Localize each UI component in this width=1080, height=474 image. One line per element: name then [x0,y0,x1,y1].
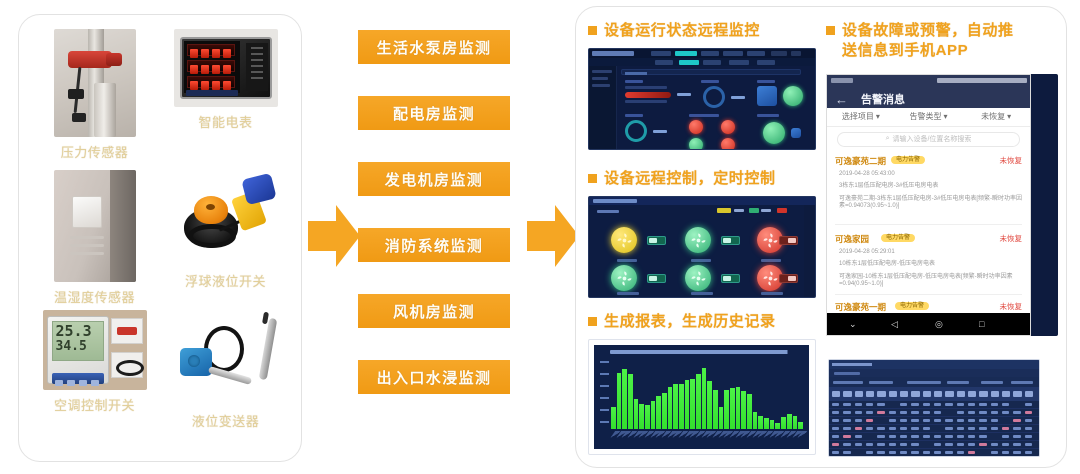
history-record-table [829,360,1039,456]
table-cell [843,451,850,454]
alarm-title: 可逸豪苑二期 [835,155,886,167]
alarm-title: 可逸豪苑一期 [835,301,886,313]
chart-bar [668,387,673,430]
table-cell [979,427,986,430]
square-bullet-icon [588,317,597,326]
table-cell [1002,435,1009,438]
filter-project-label: 选择项目 [842,111,874,122]
search-placeholder: 请输入设备/位置名称搜索 [892,134,971,144]
chart-bar [673,384,678,430]
table-cell [877,427,884,430]
status-indicator [689,138,703,150]
sensor-item-ac-switch[interactable]: 25.334.5 空调控制开关 [29,310,160,451]
table-cell [900,443,907,446]
table-cell [855,435,862,438]
table-column-header [866,391,874,397]
table-cell [979,403,986,406]
app-title: 告警消息 [861,91,905,107]
table-cell [832,411,839,414]
table-cell [832,403,839,406]
sensor-item-temp-humidity[interactable]: 温湿度传感器 [29,170,160,311]
table-cell [923,451,930,454]
chart-bar [724,390,729,429]
table-cell [1025,427,1032,430]
table-cell [957,427,964,430]
table-cell [1013,443,1020,446]
search-input[interactable]: ⌕ 请输入设备/位置名称搜索 [837,132,1020,147]
table-cell [979,419,986,422]
section-heading-text: 生成报表，生成历史记录 [604,312,776,332]
table-cell [945,435,952,438]
table-cell [855,443,862,446]
table-cell [877,435,884,438]
sensor-caption: 温湿度传感器 [54,287,135,306]
table-cell [911,403,918,406]
table-cell [832,451,839,454]
chart-bar [639,404,644,429]
table-cell [911,411,918,414]
table-column-header [1013,391,1021,397]
table-cell [900,411,907,414]
table-cell [1025,419,1032,422]
table-column-header [877,391,885,397]
section-heading-text: 设备故障或预警，自动推 送信息到手机APP [842,21,1014,62]
table-cell [957,403,964,406]
dashboard-sidebar [589,66,617,149]
status-indicator [689,120,703,134]
table-cell [934,443,941,446]
table-cell [900,403,907,406]
table-cell [934,403,941,406]
table-cell [866,419,873,422]
status-indicator [757,86,777,106]
arrow-left-icon[interactable]: ← [835,93,848,106]
table-column-header [843,391,851,397]
table-row[interactable] [829,433,1039,441]
chart-bar [685,380,690,429]
chart-bar [622,369,627,429]
table-cell [968,411,975,414]
chart-bar [690,379,695,429]
chart-bar [679,384,684,429]
table-row[interactable] [829,401,1039,409]
device-label [617,259,637,262]
table-cell [900,435,907,438]
table-column-header [1025,391,1033,397]
table-cell [843,435,850,438]
table-cell [866,403,873,406]
chevron-down-icon: ▾ [944,112,948,121]
table-cell [832,427,839,430]
table-cell [957,443,964,446]
table-cell [877,451,884,454]
device-toggle-switch[interactable] [721,236,740,245]
status-indicator [783,86,803,106]
section-heading-line1: 设备故障或预警，自动推 [842,22,1014,39]
alarm-detail: 可逸家园-10栋东1层低压配电房-低压电房电表[频繁-瞬时功率因素=0.94(0… [839,274,1022,289]
section-alarm-push: 设备故障或预警，自动推 送信息到手机APP ← 告警消息 选择项目 [826,21,1058,336]
table-column-header [923,391,931,397]
status-indicator [791,128,801,138]
table-cell [1013,411,1020,414]
table-cell [843,419,850,422]
scenario-tag[interactable]: 生活水泵房监测 [358,30,510,64]
section-status-monitoring: 设备运行状态远程监控 [588,21,816,150]
sensor-item-level-transmitter[interactable]: 液位变送器 [160,310,291,451]
air-conditioner-control-switch-photo: 25.334.5 [43,310,147,390]
table-row[interactable] [829,425,1039,433]
table-cell [877,411,884,414]
infographic-root: 压力传感器 智能电表 温湿度传感器 [0,0,1080,474]
sensor-item-pressure[interactable]: 压力传感器 [29,29,160,170]
table-cell [832,443,839,446]
alarm-status: 未恢复 [1000,155,1023,166]
device-fan-icon[interactable] [685,227,711,253]
table-cell [968,419,975,422]
table-cell [957,411,964,414]
table-cell [889,435,896,438]
table-cell [991,411,998,414]
table-cell [991,427,998,430]
filter-alarm-type[interactable]: 告警类型 ▾ [895,108,963,126]
chart-bar [634,399,639,429]
dashboard-subtabs [589,58,815,66]
device-label [761,292,783,295]
table-cell [923,419,930,422]
table-cell [1013,451,1020,454]
table-cell [855,411,862,414]
table-cell [855,419,862,422]
table-cell [911,435,918,438]
scenario-tag[interactable]: 配电房监测 [358,96,510,130]
device-toggle-switch[interactable] [647,274,666,283]
chart-bar [730,388,735,429]
table-cell [1002,427,1009,430]
table-cell [877,443,884,446]
sensor-item-meter[interactable]: 智能电表 [160,29,291,170]
sensor-gallery-panel: 压力传感器 智能电表 温湿度传感器 [18,14,302,462]
alarm-list-item[interactable]: 可逸豪苑二期 电力告警 未恢复 2019-04-28 05:43:00 3栋东1… [835,155,1022,225]
table-row[interactable] [829,441,1039,449]
chart-y-axis [594,359,610,429]
alarm-status: 未恢复 [1000,233,1023,244]
table-cell [889,419,896,422]
table-cell [900,451,907,454]
sensor-caption: 浮球液位开关 [185,271,266,290]
flow-arrow-right [527,205,579,267]
section-heading: 设备故障或预警，自动推 送信息到手机APP [826,21,1058,62]
chart-bar [645,405,650,429]
table-cell [934,419,941,422]
chart-bar [702,368,707,430]
app-navbar: ← 告警消息 [827,86,1030,108]
table-cell [945,427,952,430]
home-circle-icon[interactable]: ◎ [935,319,943,330]
alarm-badge: 电力告警 [881,234,915,242]
android-nav-bar: ⌄ ◁ ◎ □ [827,313,1030,335]
section-remote-control: 设备远程控制，定时控制 [588,169,816,298]
device-toggle-switch[interactable] [721,274,740,283]
table-column-header [911,391,919,397]
table-cell [843,443,850,446]
phone-status-bar [827,75,1030,86]
chart-title [610,350,803,354]
alarm-badge: 电力告警 [891,156,925,164]
chart-bar [753,412,758,429]
status-indicator [721,120,735,134]
table-cell [923,435,930,438]
table-column-header [832,391,840,397]
legend-normal [749,208,759,213]
table-column-header [968,391,976,397]
table-column-header [945,391,953,397]
table-column-header [1002,391,1010,397]
filter-alarm-type-label: 告警类型 [910,111,942,122]
scenario-tag[interactable]: 风机房监测 [358,294,510,328]
alarm-device: 10栋东1层低压配电房-低压电房电表 [839,261,1022,269]
chart-bar [747,394,752,430]
table-cell [855,427,862,430]
table-cell [934,451,941,454]
table-cell [934,411,941,414]
chart-bars [611,359,803,429]
table-cell [889,411,896,414]
chart-x-axis-labels [611,431,803,445]
table-cell [968,451,975,454]
table-cell [900,427,907,430]
legend-fault [777,208,787,213]
table-cell [866,451,873,454]
chart-bar [707,381,712,429]
table-cell [1002,443,1009,446]
dashboard-main [617,66,815,149]
sensor-caption: 智能电表 [198,112,252,131]
capabilities-panel: 设备运行状态远程监控 [575,6,1067,468]
chart-bar [696,374,701,429]
table-column-header [979,391,987,397]
keyboard-hide-icon[interactable]: ⌄ [849,319,857,330]
section-heading-text: 设备运行状态远程监控 [604,21,760,41]
scenario-tag[interactable]: 发电机房监测 [358,162,510,196]
report-bar-chart[interactable] [588,339,816,455]
device-label [691,259,711,262]
square-bullet-icon [826,26,835,35]
recents-square-icon[interactable]: □ [979,319,984,329]
device-toggle-switch[interactable] [779,274,798,283]
table-cell [923,427,930,430]
alarm-filter-bar: 选择项目 ▾ 告警类型 ▾ 未恢复 ▾ [827,108,1030,127]
sensor-caption: 液位变送器 [192,411,260,430]
table-cell [945,443,952,446]
section-reports: 生成报表，生成历史记录 [588,312,816,455]
device-label [691,292,713,295]
table-cell [911,443,918,446]
electricity-usage-bar-chart [594,345,809,449]
float-level-switch-photo [174,170,278,266]
chart-bar [617,373,622,430]
table-cell [889,451,896,454]
table-cell [866,443,873,446]
alarm-time: 2019-04-28 05:43:00 [839,171,1022,179]
chart-bar [781,417,786,429]
device-fan-icon[interactable] [611,227,637,253]
chart-bar [719,407,724,429]
table-cell [957,419,964,422]
device-toggle-switch[interactable] [779,236,798,245]
level-transmitter-photo [174,310,278,406]
section-heading-line2: 送信息到手机APP [842,42,968,59]
table-row[interactable] [829,417,1039,425]
table-cell [1013,435,1020,438]
mobile-alarm-app[interactable]: ← 告警消息 选择项目 ▾ 告警类型 ▾ 未恢复 [826,74,1058,336]
smart-electric-meter-photo [174,29,278,107]
alarm-detail: 可逸豪苑二期-3栋东1层低压配电房-3#低压电房电表[频繁-瞬时功率因素=0.9… [839,196,1022,211]
table-cell [877,403,884,406]
table-cell [1002,403,1009,406]
table-row[interactable] [829,409,1039,417]
table-cell [945,419,952,422]
flow-gauge [625,120,647,142]
table-cell [991,403,998,406]
control-panel-header [589,197,815,205]
monitoring-scenario-tags: 生活水泵房监测 配电房监测 发电机房监测 消防系统监测 风机房监测 出入口水浸监… [358,30,523,450]
alarm-title: 可逸家园 [835,233,869,245]
table-cell [866,411,873,414]
history-record-table-shot[interactable] [828,359,1040,457]
table-cell [889,443,896,446]
temperature-gauge [625,92,671,98]
status-indicator [721,138,735,150]
table-cell [991,443,998,446]
table-cell [934,435,941,438]
flow-arrow-left [308,205,360,267]
filter-status-label: 未恢复 [981,111,1005,122]
section-heading-text: 设备远程控制，定时控制 [604,169,776,189]
alarm-time: 2019-04-28 05:29:01 [839,249,1022,257]
table-cell [832,435,839,438]
chart-bar [662,393,667,429]
scenario-tag[interactable]: 出入口水浸监测 [358,360,510,394]
table-cell [889,427,896,430]
chart-bar [798,422,803,430]
square-bullet-icon [588,26,597,35]
table-cell [968,435,975,438]
filter-status[interactable]: 未恢复 ▾ [962,108,1030,126]
table-cell [923,411,930,414]
table-body [829,401,1039,456]
chart-bar [741,391,746,429]
back-triangle-icon[interactable]: ◁ [891,319,898,330]
section-heading: 生成报表，生成历史记录 [588,312,816,332]
table-cell [1002,411,1009,414]
table-column-header [900,391,908,397]
table-column-header [855,391,863,397]
section-heading: 设备运行状态远程监控 [588,21,816,41]
table-cell [900,419,907,422]
sensor-caption: 压力传感器 [61,142,129,161]
table-column-headers [829,387,1039,401]
sensor-caption: 空调控制开关 [54,395,135,414]
table-cell [1025,411,1032,414]
table-cell [945,403,952,406]
legend-running [717,208,731,213]
device-label [617,292,639,295]
temperature-humidity-sensor-photo [54,170,136,282]
filter-project[interactable]: 选择项目 ▾ [827,108,895,126]
chart-bar [775,423,780,430]
chart-bar [736,387,741,429]
alarm-device: 3栋东1层低压配电房-3#低压电房电表 [839,183,1022,191]
table-cell [1025,443,1032,446]
table-cell [979,435,986,438]
table-cell [832,419,839,422]
chart-bar [628,374,633,429]
status-indicator [763,122,785,144]
chevron-down-icon: ▾ [876,112,880,121]
chart-bar [770,420,775,429]
table-column-header [889,391,897,397]
chart-bar [764,418,769,430]
sensor-item-float-switch[interactable]: 浮球液位开关 [160,170,291,311]
table-cell [1013,427,1020,430]
table-cell [968,427,975,430]
table-cell [911,427,918,430]
device-toggle-switch[interactable] [647,236,666,245]
table-cell [968,443,975,446]
equipment-status-dashboard[interactable] [588,48,816,150]
chart-plot-area [611,359,803,429]
table-cell [968,403,975,406]
table-row[interactable] [829,449,1039,457]
search-icon: ⌕ [886,135,890,143]
alarm-badge: 电力告警 [895,302,929,310]
scenario-tag[interactable]: 消防系统监测 [358,228,510,262]
table-cell [1025,435,1032,438]
device-fan-icon[interactable] [611,265,637,291]
table-cell [979,411,986,414]
table-cell [911,419,918,422]
table-cell [843,411,850,414]
table-cell [843,427,850,430]
table-cell [991,451,998,454]
table-cell [1002,451,1009,454]
chevron-down-icon: ▾ [1007,112,1011,121]
pressure-gauge [703,86,725,108]
chart-bar [611,407,616,429]
table-cell [855,403,862,406]
table-cell [945,451,952,454]
chart-bar [713,390,718,429]
device-fan-icon[interactable] [685,265,711,291]
table-cell [911,451,918,454]
chart-bar [758,416,763,429]
sensor-grid: 压力传感器 智能电表 温湿度传感器 [19,15,301,461]
section-heading: 设备远程控制，定时控制 [588,169,816,189]
table-cell [979,443,986,446]
alarm-list-item[interactable]: 可逸家园 电力告警 未恢复 2019-04-28 05:29:01 10栋东1层… [835,233,1022,295]
pressure-sensor-photo [54,29,136,137]
chart-bar [793,416,798,429]
square-bullet-icon [588,174,597,183]
dashboard-topbar [589,49,815,58]
table-column-header [957,391,965,397]
remote-control-dashboard[interactable] [588,196,816,298]
chart-bar [787,414,792,429]
table-cell [923,403,930,406]
table-column-header [991,391,999,397]
table-cell [1025,403,1032,406]
device-label [761,259,781,262]
